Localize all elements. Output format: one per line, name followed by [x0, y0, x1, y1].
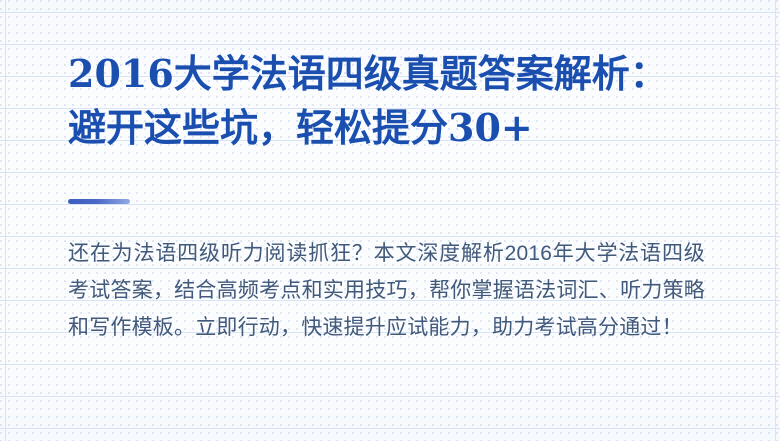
article-summary: 还在为法语四级听力阅读抓狂？本文深度解析2016年大学法语四级考试答案，结合高频… — [68, 235, 705, 346]
article-cover-card: 2016大学法语四级真题答案解析： 避开这些坑，轻松提分30+ 还在为法语四级听… — [0, 0, 780, 441]
page-title: 2016大学法语四级真题答案解析： 避开这些坑，轻松提分30+ — [68, 47, 714, 155]
content-area: 2016大学法语四级真题答案解析： 避开这些坑，轻松提分30+ 还在为法语四级听… — [68, 0, 720, 441]
background-left-rule — [5, 0, 6, 441]
background-right-rule — [775, 0, 776, 441]
title-divider — [68, 199, 130, 204]
